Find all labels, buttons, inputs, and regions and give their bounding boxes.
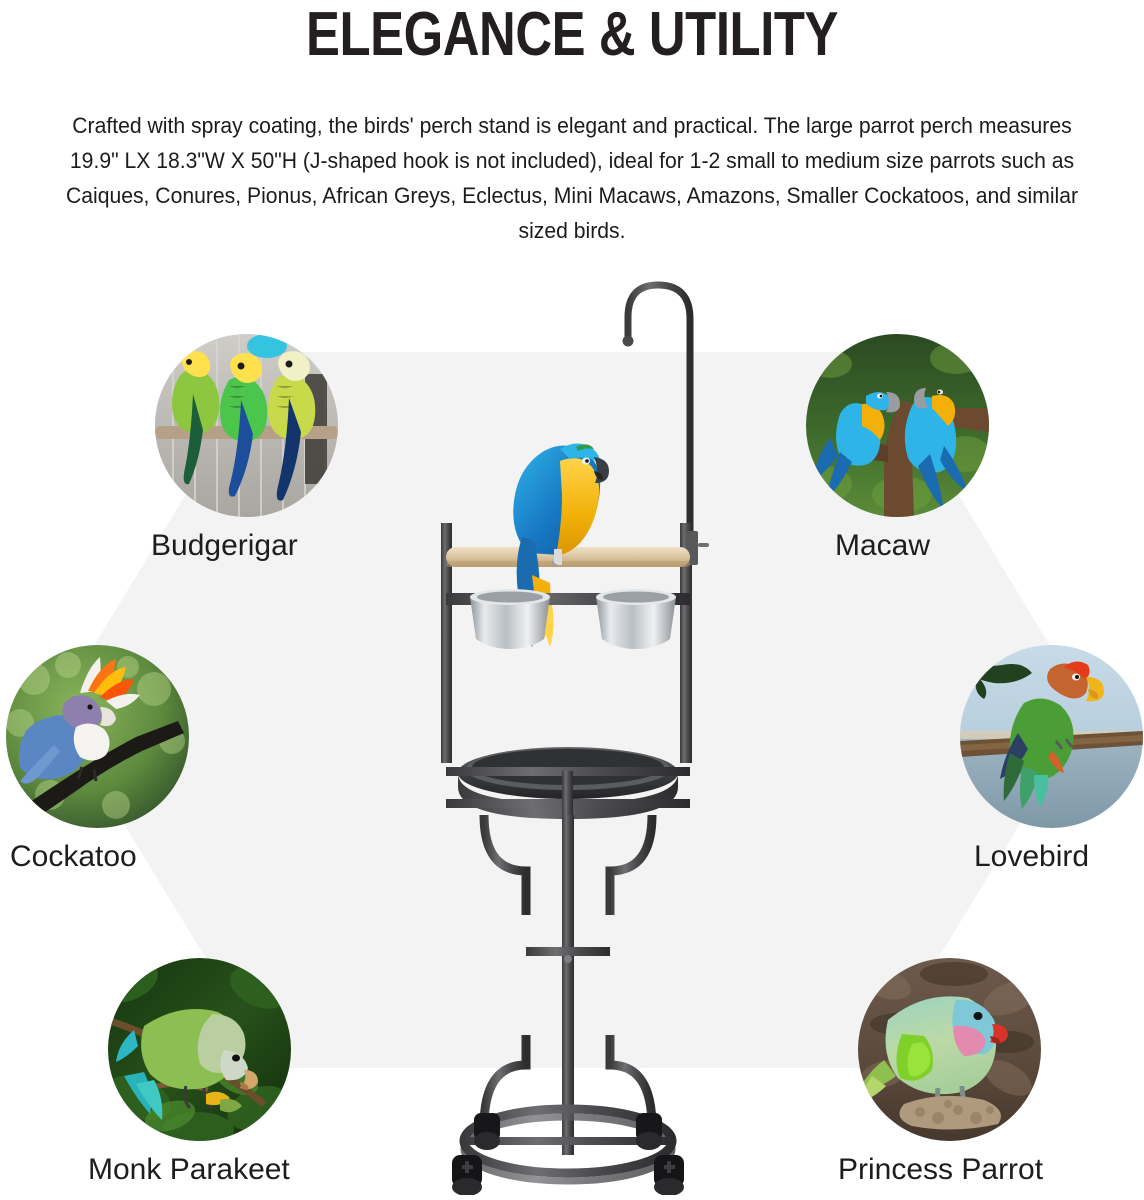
header-block: ELEGANCE & UTILITY Crafted with spray co… [0, 0, 1144, 260]
page-title: ELEGANCE & UTILITY [103, 2, 1041, 68]
bird-label-budgerigar: Budgerigar [151, 528, 491, 564]
bird-label-macaw: Macaw [835, 528, 1144, 564]
bird-callout-lovebird: Lovebird [960, 645, 1143, 828]
product-illustration [410, 275, 730, 1195]
j-shaped-hook [623, 285, 691, 547]
caster-wheel-back-left [474, 1113, 500, 1150]
page-description: Crafted with spray coating, the birds' p… [47, 108, 1096, 248]
cockatoo-photo [6, 645, 189, 828]
bird-label-princess-parrot: Princess Parrot [838, 1152, 1144, 1188]
bird-label-monk-parakeet: Monk Parakeet [88, 1152, 428, 1188]
bird-label-lovebird: Lovebird [974, 839, 1144, 875]
lovebird-photo [960, 645, 1143, 828]
budgerigar-photo [155, 334, 338, 517]
centre-column [526, 815, 610, 1155]
bird-callout-cockatoo: Cockatoo [6, 645, 189, 828]
princess-parrot-photo [858, 958, 1041, 1141]
caster-wheel-front-left [452, 1155, 482, 1195]
caster-wheel-front-right [654, 1155, 684, 1195]
bird-callout-monk-parakeet: Monk Parakeet [108, 958, 291, 1141]
bird-label-cockatoo: Cockatoo [10, 839, 350, 875]
caster-wheel-back-right [636, 1113, 662, 1150]
stainless-steel-bowl-right [596, 589, 676, 649]
metal-tray [446, 747, 690, 819]
bird-callout-princess-parrot: Princess Parrot [858, 958, 1041, 1141]
stainless-steel-bowl-left [470, 589, 550, 649]
infographic-page: ELEGANCE & UTILITY Crafted with spray co… [0, 0, 1144, 1200]
bird-callout-macaw: Macaw [806, 334, 989, 517]
bird-callout-budgerigar: Budgerigar [155, 334, 338, 517]
monk-parakeet-photo [108, 958, 291, 1141]
macaw-photo [806, 334, 989, 517]
